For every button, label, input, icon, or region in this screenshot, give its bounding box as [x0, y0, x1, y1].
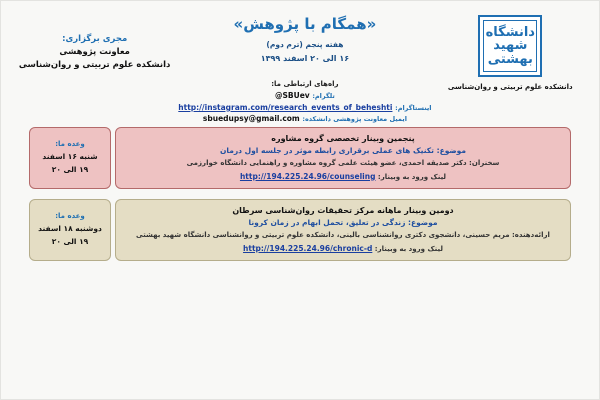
page-date-range: ۱۶ الی ۲۰ اسفند ۱۳۹۹: [178, 52, 431, 66]
event-link-line: لینک ورود به وبینار: http://194.225.24.9…: [126, 172, 560, 181]
badge-time: ۱۹ الی ۲۰: [52, 236, 89, 249]
poster-canvas: مجری برگزاری: معاونت پژوهشی دانشکده علوم…: [0, 0, 600, 400]
contact-row-instagram: اینستاگرام: http://instagram.com/researc…: [178, 102, 431, 114]
event-join-link[interactable]: http://194.225.24.96/counseling: [240, 172, 376, 181]
event-subject: موضوع: تکنیک های عملی برقراری رابطه موثر…: [126, 146, 560, 155]
badge-time: ۱۹ الی ۲۰: [52, 164, 89, 177]
logo-text-bottom: شهید بهشتی: [484, 39, 536, 66]
event-link-label: لینک ورود به وبینار:: [378, 173, 446, 181]
email-label: ایمیل معاونت پژوهشی دانشکده:: [302, 115, 407, 123]
contact-heading: راه‌های ارتباطی ما:: [178, 79, 431, 90]
instagram-label: اینستاگرام:: [395, 104, 431, 112]
event-date-badge-2: وعده ما: دوشنبه ۱۸ اسفند ۱۹ الی ۲۰: [29, 199, 111, 261]
event-card-2: دومین وبینار ماهانه مرکز تحقیقات روان‌شن…: [115, 199, 571, 261]
badge-date: دوشنبه ۱۸ اسفند: [38, 223, 102, 236]
contact-block: راه‌های ارتباطی ما: تلگرام: @SBUev اینست…: [178, 79, 431, 125]
instagram-link[interactable]: http://instagram.com/research_events_of_…: [178, 102, 392, 114]
event-subject: موضوع: زندگی در تعلیق، تحمل ابهام در زما…: [126, 218, 560, 227]
university-logo: دانشگاه شهید بهشتی: [478, 15, 542, 77]
logo-frame: دانشگاه شهید بهشتی: [483, 20, 537, 72]
page-title: «همگام با پژوهش»: [178, 15, 431, 33]
organizer-line-2: دانشکده علوم تربیتی و روان‌شناسی: [11, 59, 178, 72]
organizer-label: مجری برگزاری:: [11, 33, 178, 46]
logo-block: دانشگاه شهید بهشتی دانشکده علوم تربیتی و…: [432, 7, 589, 91]
faculty-name: دانشکده علوم تربیتی و روان‌شناسی: [432, 83, 589, 91]
event-title: دومین وبینار ماهانه مرکز تحقیقات روان‌شن…: [126, 206, 560, 215]
event-speaker: ارائه‌دهنده: مریم حسینی، دانشجوی دکتری ر…: [126, 230, 560, 241]
organizer-line-1: معاونت پژوهشی: [11, 46, 178, 59]
telegram-label: تلگرام:: [312, 92, 335, 100]
event-link-line: لینک ورود به وبینار: http://194.225.24.9…: [126, 244, 560, 253]
contact-row-email: ایمیل معاونت پژوهشی دانشکده: sbuedupsy@g…: [178, 113, 431, 125]
logo-calligraphy: دانشگاه شهید بهشتی: [484, 21, 536, 71]
organizer-block: مجری برگزاری: معاونت پژوهشی دانشکده علوم…: [11, 7, 178, 72]
events-list: پنجمین وبینار تخصصی گروه مشاوره موضوع: ت…: [1, 119, 599, 261]
event-join-link[interactable]: http://194.225.24.96/chronic-d: [243, 244, 372, 253]
event-date-badge-1: وعده ما: شنبه ۱۶ اسفند ۱۹ الی ۲۰: [29, 127, 111, 189]
title-block: «همگام با پژوهش» هفته پنجم (ترم دوم) ۱۶ …: [178, 7, 431, 125]
email-address[interactable]: sbuedupsy@gmail.com: [203, 113, 300, 125]
event-title: پنجمین وبینار تخصصی گروه مشاوره: [126, 134, 560, 143]
event-link-label: لینک ورود به وبینار:: [375, 245, 443, 253]
badge-label: وعده ما:: [55, 139, 85, 151]
badge-date: شنبه ۱۶ اسفند: [42, 151, 97, 164]
page-subtitle: هفته پنجم (ترم دوم): [178, 39, 431, 52]
logo-text-top: دانشگاه: [486, 26, 535, 40]
event-row: دومین وبینار ماهانه مرکز تحقیقات روان‌شن…: [29, 199, 571, 261]
event-card-1: پنجمین وبینار تخصصی گروه مشاوره موضوع: ت…: [115, 127, 571, 189]
poster-header: مجری برگزاری: معاونت پژوهشی دانشکده علوم…: [1, 1, 599, 119]
event-row: پنجمین وبینار تخصصی گروه مشاوره موضوع: ت…: [29, 127, 571, 189]
event-speaker: سخنران: دکتر صدیقه احمدی، عضو هیئت علمی …: [126, 158, 560, 169]
badge-label: وعده ما:: [55, 211, 85, 223]
contact-row-telegram: تلگرام: @SBUev: [178, 90, 431, 102]
telegram-handle: @SBUev: [275, 90, 310, 102]
